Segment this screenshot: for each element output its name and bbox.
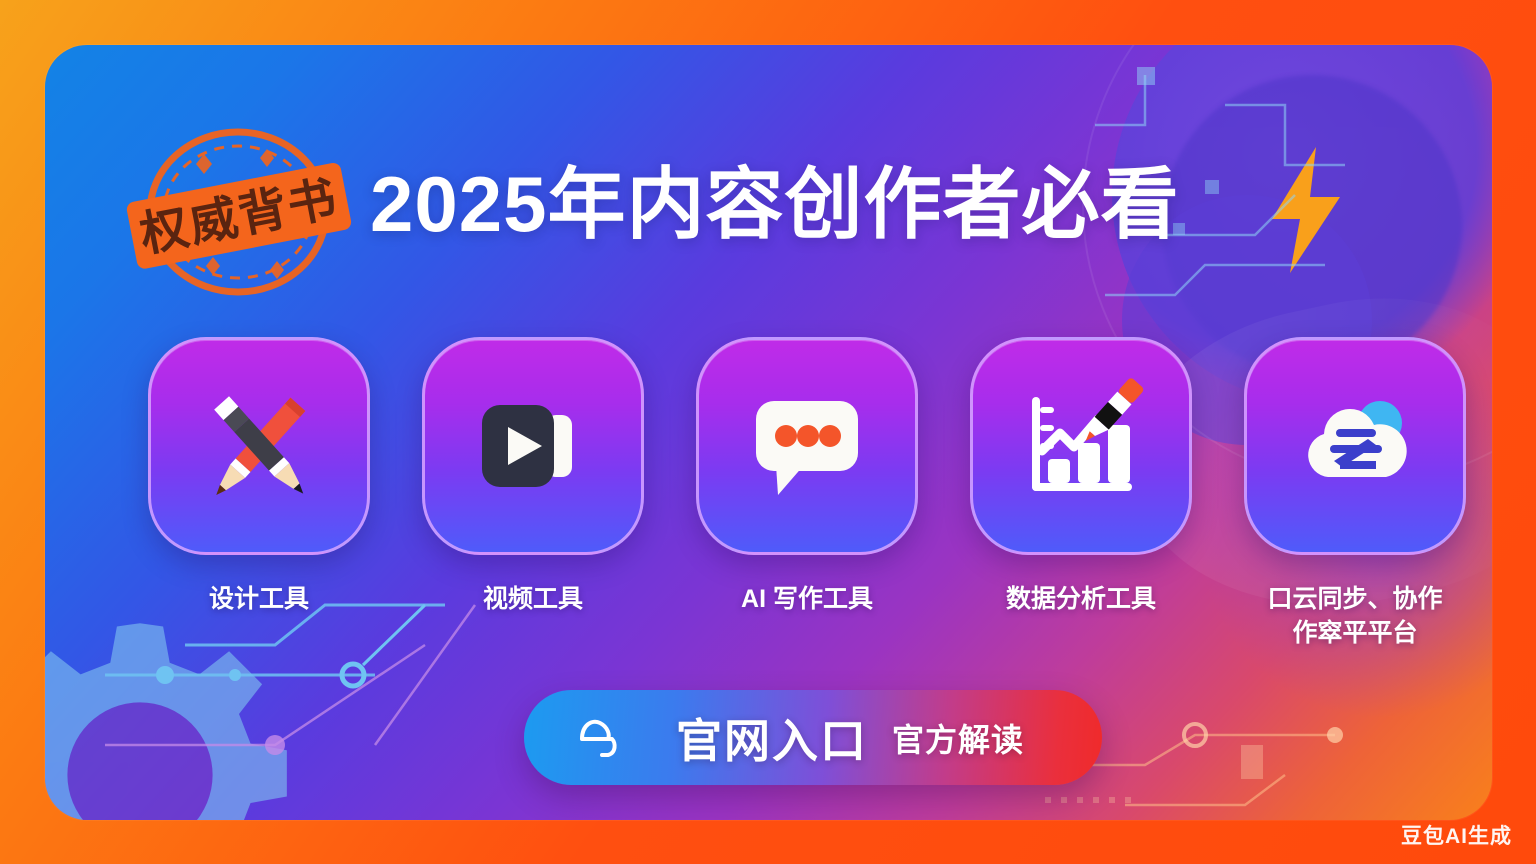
feature-label: 设计工具 [209, 583, 309, 617]
feature-card-design[interactable] [148, 337, 370, 555]
cloud-sync-icon [1290, 381, 1420, 511]
feature-item-design[interactable]: 设计工具 [148, 337, 370, 651]
lightning-bolt-icon [1260, 145, 1350, 275]
feature-item-ai-writing[interactable]: AI 写作工具 [696, 337, 918, 651]
cloud-arrow-icon [572, 709, 630, 767]
bar-chart-pen-icon [1016, 381, 1146, 511]
crossed-pencils-icon [194, 381, 324, 511]
feature-item-cloud[interactable]: 口云同步、协作 作窣平平台 [1244, 337, 1466, 651]
feature-item-video[interactable]: 视频工具 [422, 337, 644, 651]
feature-label: 数据分析工具 [1006, 583, 1156, 617]
feature-label: 口云同步、协作 作窣平平台 [1267, 583, 1442, 651]
watermark: 豆包AI生成 [1401, 820, 1512, 850]
video-camera-icon [468, 381, 598, 511]
authority-stamp: 权威背书 [110, 120, 370, 305]
cta-main-label: 官网入口 [676, 705, 868, 771]
feature-label: AI 写作工具 [741, 583, 873, 617]
feature-card-ai-writing[interactable] [696, 337, 918, 555]
feature-label: 视频工具 [483, 583, 583, 617]
feature-item-data-analysis[interactable]: 数据分析工具 [970, 337, 1192, 651]
page-title: 2025年内容创作者必看 [370, 165, 1270, 243]
feature-list: 设计工具 视频工具 [148, 337, 1468, 651]
speech-bubble-icon [742, 381, 872, 511]
feature-card-data-analysis[interactable] [970, 337, 1192, 555]
poster-card: 权威背书 2025年内容创作者必看 [45, 45, 1492, 820]
cta-sub-label: 官方解读 [892, 715, 1024, 761]
cta-button[interactable]: 官网入口 官方解读 [524, 690, 1102, 785]
feature-card-video[interactable] [422, 337, 644, 555]
feature-card-cloud[interactable] [1244, 337, 1466, 555]
